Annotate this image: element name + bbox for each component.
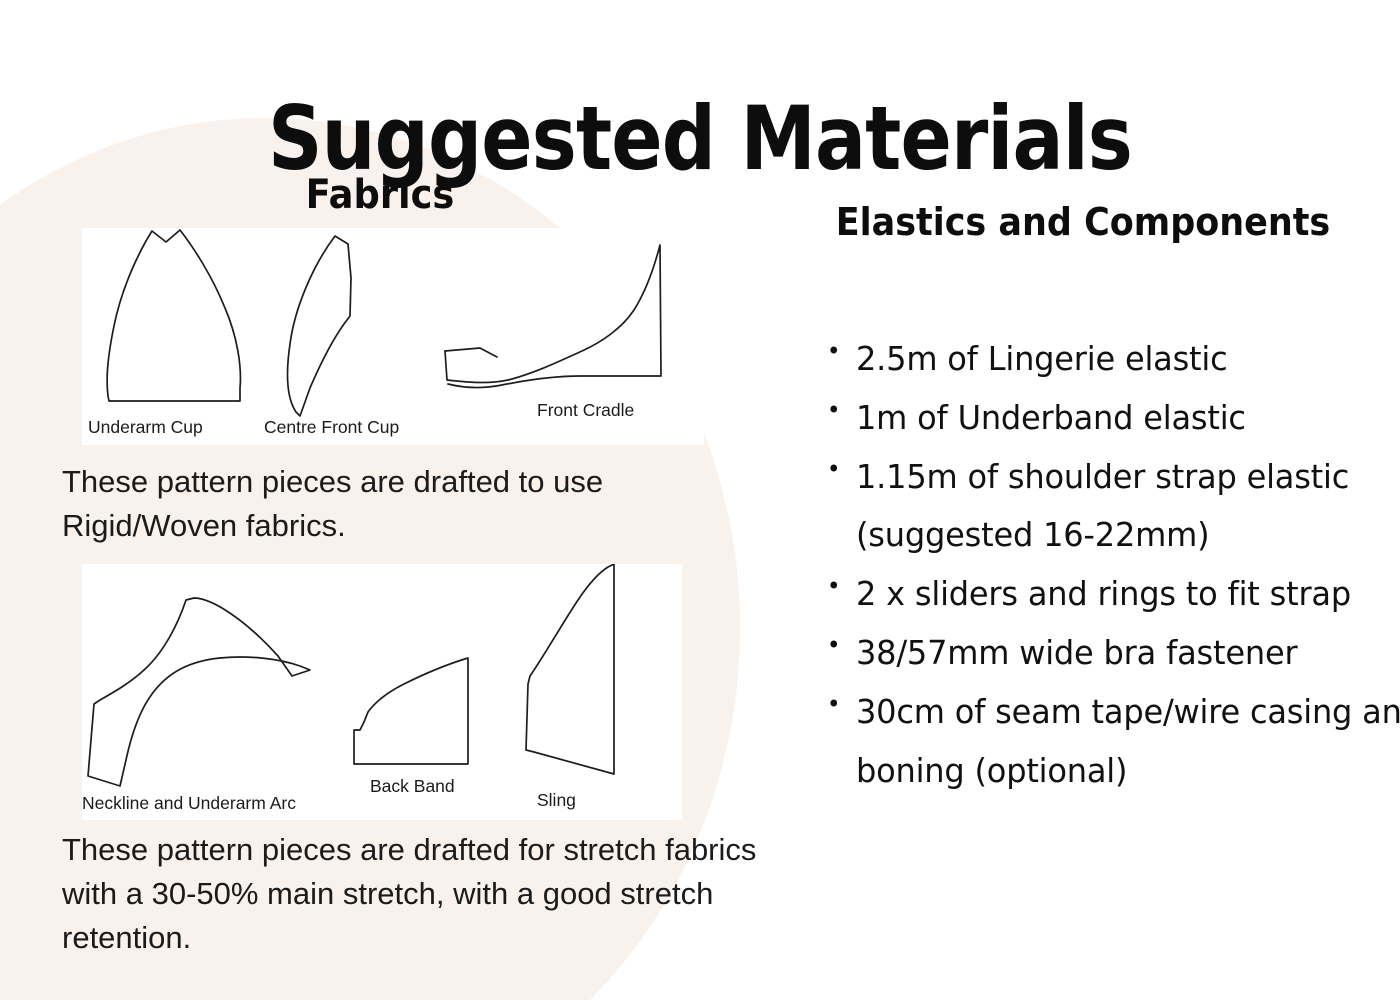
piece-label-sling: Sling [537, 790, 576, 810]
rigid-pattern-pieces-image: Underarm Cup Centre Front Cup Front Crad… [82, 228, 704, 445]
pattern-piece-back-band [354, 658, 468, 764]
materials-list: 2.5m of Lingerie elastic 1m of Underband… [812, 330, 1400, 801]
list-item: 38/57mm wide bra fastener [856, 624, 1400, 682]
list-item: 2 x sliders and rings to fit strap [856, 565, 1400, 623]
stretch-fabrics-caption: These pattern pieces are drafted for str… [62, 828, 802, 960]
list-item: 1.15m of shoulder strap elastic (suggest… [856, 448, 1400, 564]
stretch-pattern-pieces-image: Neckline and Underarm Arc Back Band Slin… [82, 564, 682, 820]
piece-label-front-cradle: Front Cradle [537, 400, 634, 420]
elastics-components-column: Elastics and Components 2.5m of Lingerie… [770, 0, 1400, 1000]
pattern-piece-front-cradle [445, 245, 661, 388]
list-item: 1m of Underband elastic [856, 389, 1400, 447]
pattern-piece-sling [526, 564, 614, 774]
piece-label-centre-front-cup: Centre Front Cup [264, 417, 399, 437]
pattern-piece-neckline-underarm-arc [88, 598, 310, 786]
piece-label-neckline-underarm-arc: Neckline and Underarm Arc [82, 793, 296, 813]
slide-canvas: Suggested Materials Fabrics Underarm [0, 0, 1400, 1000]
pattern-piece-centre-front-cup [288, 236, 351, 416]
piece-label-underarm-cup: Underarm Cup [88, 417, 203, 437]
list-item: 30cm of seam tape/wire casing and boning… [856, 683, 1400, 799]
piece-label-back-band: Back Band [370, 776, 455, 796]
list-item: 2.5m of Lingerie elastic [856, 330, 1400, 388]
elastics-components-heading: Elastics and Components [802, 200, 1363, 244]
rigid-fabrics-caption: These pattern pieces are drafted to use … [62, 460, 762, 548]
pattern-piece-underarm-cup [107, 230, 240, 401]
